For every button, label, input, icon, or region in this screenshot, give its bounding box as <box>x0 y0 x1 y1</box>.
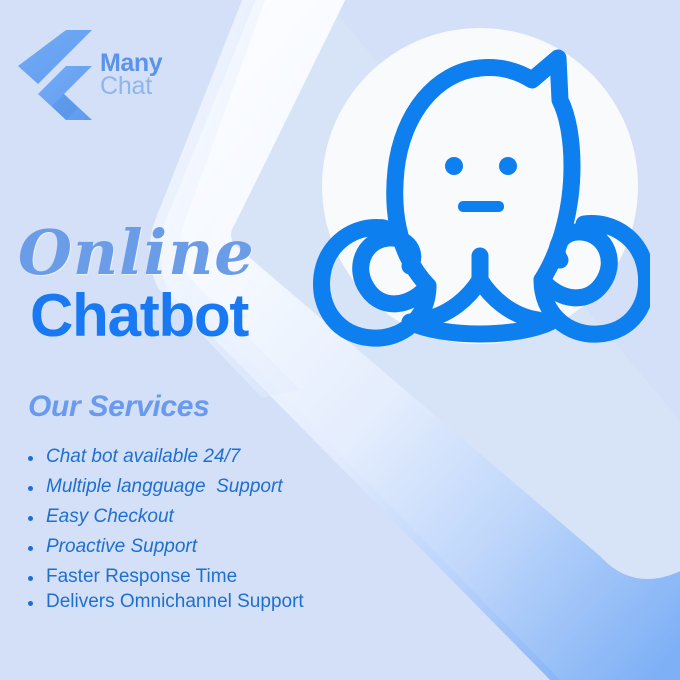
brand-wordmark: Many Chat <box>100 52 162 98</box>
flutter-logo-icon <box>14 28 96 120</box>
brand-name-line2: Chat <box>100 75 162 98</box>
list-item: Faster Response Time <box>20 566 420 588</box>
brand-logo[interactable]: Many Chat <box>14 28 162 120</box>
poster-canvas: Many Chat <box>0 0 680 680</box>
headline-block: Online Chatbot <box>12 222 342 346</box>
services-section: Our Services Chat bot available 24/7 Mul… <box>20 390 420 616</box>
list-item: Chat bot available 24/7 <box>20 446 420 468</box>
list-item: Multiple langguage Support <box>20 476 420 498</box>
list-item: Delivers Omnichannel Support <box>20 591 420 613</box>
title-script-word: Online <box>18 222 342 284</box>
services-list: Chat bot available 24/7 Multiple langgua… <box>20 446 420 613</box>
list-item: Easy Checkout <box>20 506 420 528</box>
list-item: Proactive Support <box>20 536 420 558</box>
title-main-word: Chatbot <box>30 286 342 346</box>
services-heading: Our Services <box>28 390 420 424</box>
octopus-mascot-icon <box>310 18 650 358</box>
